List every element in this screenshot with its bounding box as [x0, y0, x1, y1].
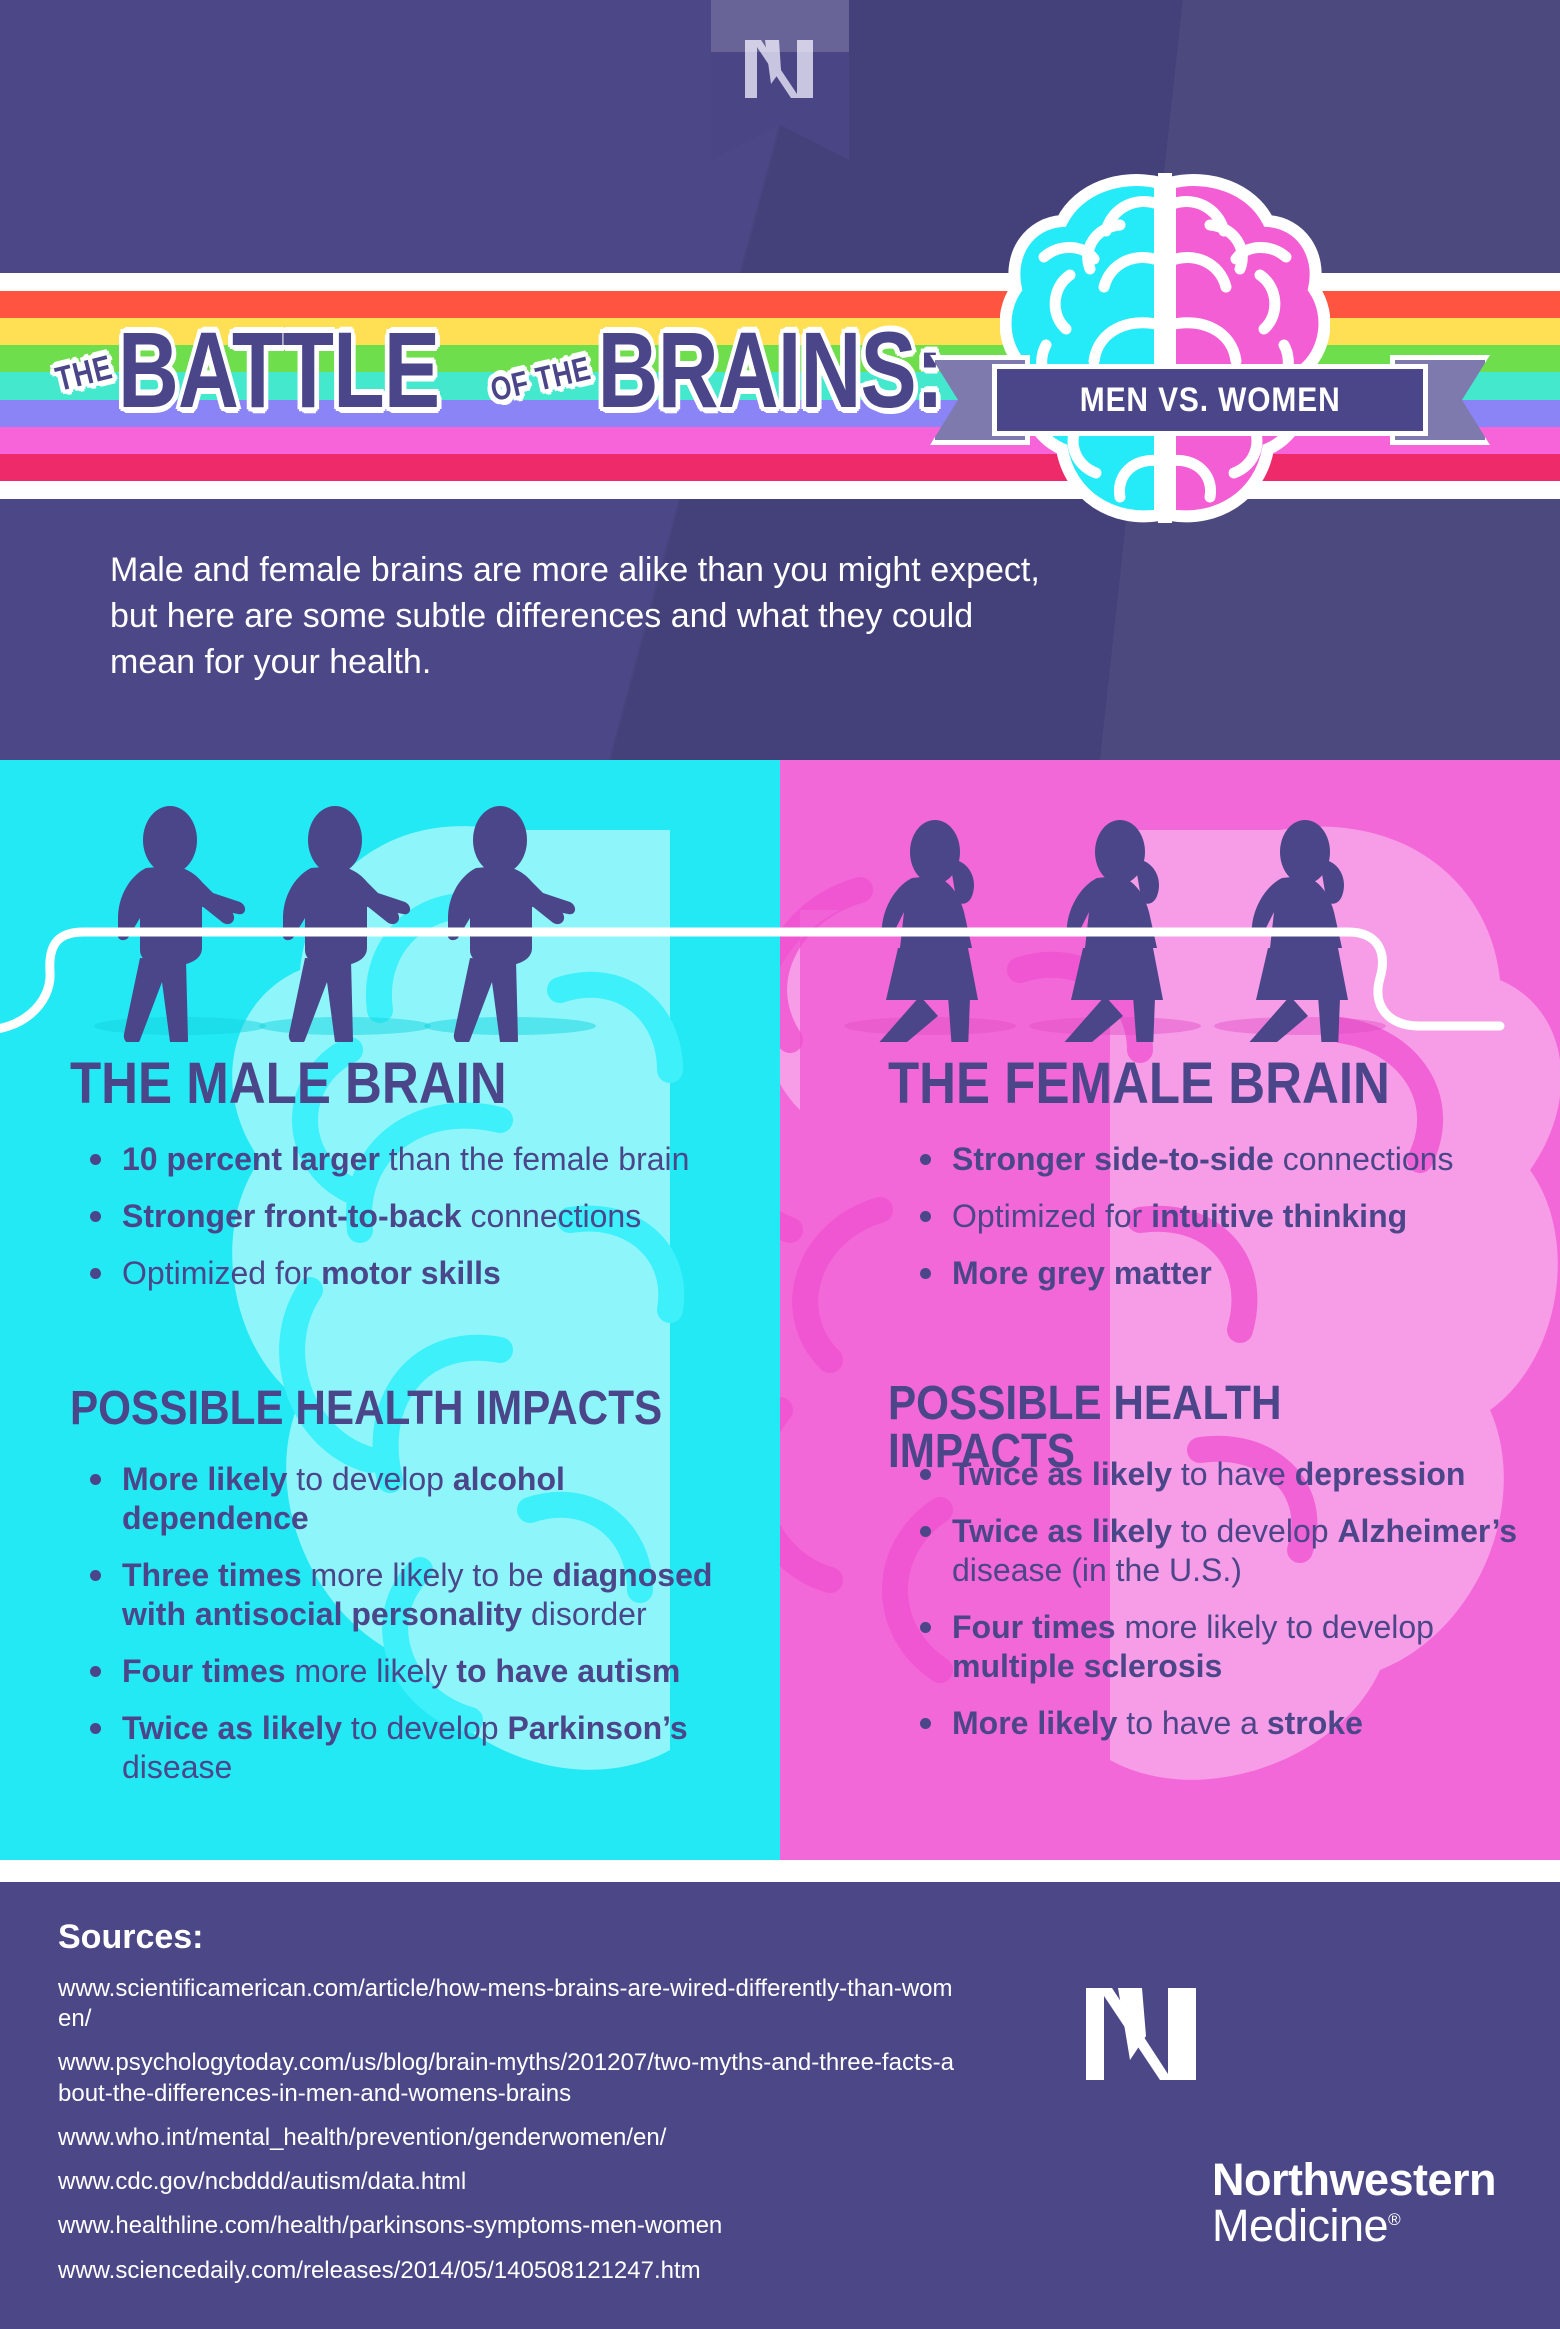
list-item: Stronger side-to-side connections [900, 1140, 1530, 1179]
logo-line-1: Northwestern [1212, 2157, 1496, 2203]
registered-mark: ® [1388, 2210, 1400, 2229]
list-item: More likely to have a stroke [900, 1704, 1540, 1743]
female-impacts-list: Twice as likely to have depressionTwice … [900, 1455, 1540, 1761]
list-item: Optimized for motor skills [70, 1254, 730, 1293]
tug-of-war-women [780, 782, 1560, 1042]
northwestern-medicine-logo-icon [1082, 1984, 1200, 2084]
sources-heading: Sources: [58, 1918, 204, 1957]
list-item: Four times more likely to have autism [70, 1652, 760, 1691]
male-impacts-heading: POSSIBLE HEALTH IMPACTS [70, 1385, 662, 1433]
list-item: Twice as likely to develop Alzheimer’s d… [900, 1512, 1540, 1590]
list-item: Twice as likely to have depression [900, 1455, 1540, 1494]
source-url[interactable]: www.sciencedaily.com/releases/2014/05/14… [58, 2256, 958, 2286]
men-vs-women-ribbon: MEN VS. WOMEN [930, 355, 1490, 445]
female-brain-heading: THE FEMALE BRAIN [888, 1055, 1390, 1113]
list-item: Twice as likely to develop Parkinson’s d… [70, 1709, 760, 1787]
footer-section: Sources: www.scientificamerican.com/arti… [0, 1882, 1560, 2329]
female-facts-list: Stronger side-to-side connectionsOptimiz… [900, 1140, 1530, 1311]
page-title: THE BATTLE BRAINS: OF THE [0, 300, 1000, 480]
male-brain-heading: THE MALE BRAIN [70, 1055, 507, 1113]
infographic-page: THE BATTLE BRAINS: OF THE MEN VS. WOMEN … [0, 0, 1560, 2329]
source-url[interactable]: www.who.int/mental_health/prevention/gen… [58, 2123, 958, 2153]
sources-list: www.scientificamerican.com/article/how-m… [58, 1974, 958, 2300]
northwestern-medicine-wordmark: Northwestern Medicine® [1212, 2157, 1496, 2249]
list-item: Optimized for intuitive thinking [900, 1197, 1530, 1236]
logo-line-2: Medicine® [1212, 2203, 1496, 2249]
list-item: More grey matter [900, 1254, 1530, 1293]
comparison-section: THE MALE BRAIN 10 percent larger than th… [0, 760, 1560, 1860]
tug-of-war-men [0, 782, 780, 1042]
male-facts-list: 10 percent larger than the female brainS… [70, 1140, 730, 1311]
ribbon-label: MEN VS. WOMEN [1080, 381, 1341, 420]
source-url[interactable]: www.cdc.gov/ncbddd/autism/data.html [58, 2167, 958, 2197]
bookmark-highlight [711, 0, 849, 52]
intro-paragraph: Male and female brains are more alike th… [110, 548, 1060, 686]
list-item: Three times more likely to be diagnosed … [70, 1556, 760, 1634]
source-url[interactable]: www.psychologytoday.com/us/blog/brain-my… [58, 2048, 958, 2108]
title-word-the: THE [52, 348, 117, 400]
list-item: 10 percent larger than the female brain [70, 1140, 730, 1179]
ribbon-body: MEN VS. WOMEN [992, 364, 1428, 436]
list-item: Stronger front-to-back connections [70, 1197, 730, 1236]
footer-white-rule [0, 1860, 1560, 1882]
list-item: More likely to develop alcohol dependenc… [70, 1460, 760, 1538]
list-item: Four times more likely to develop multip… [900, 1608, 1540, 1686]
source-url[interactable]: www.healthline.com/health/parkinsons-sym… [58, 2211, 958, 2241]
source-url[interactable]: www.scientificamerican.com/article/how-m… [58, 1974, 958, 2034]
male-impacts-list: More likely to develop alcohol dependenc… [70, 1460, 760, 1805]
male-column: THE MALE BRAIN 10 percent larger than th… [0, 760, 780, 1860]
